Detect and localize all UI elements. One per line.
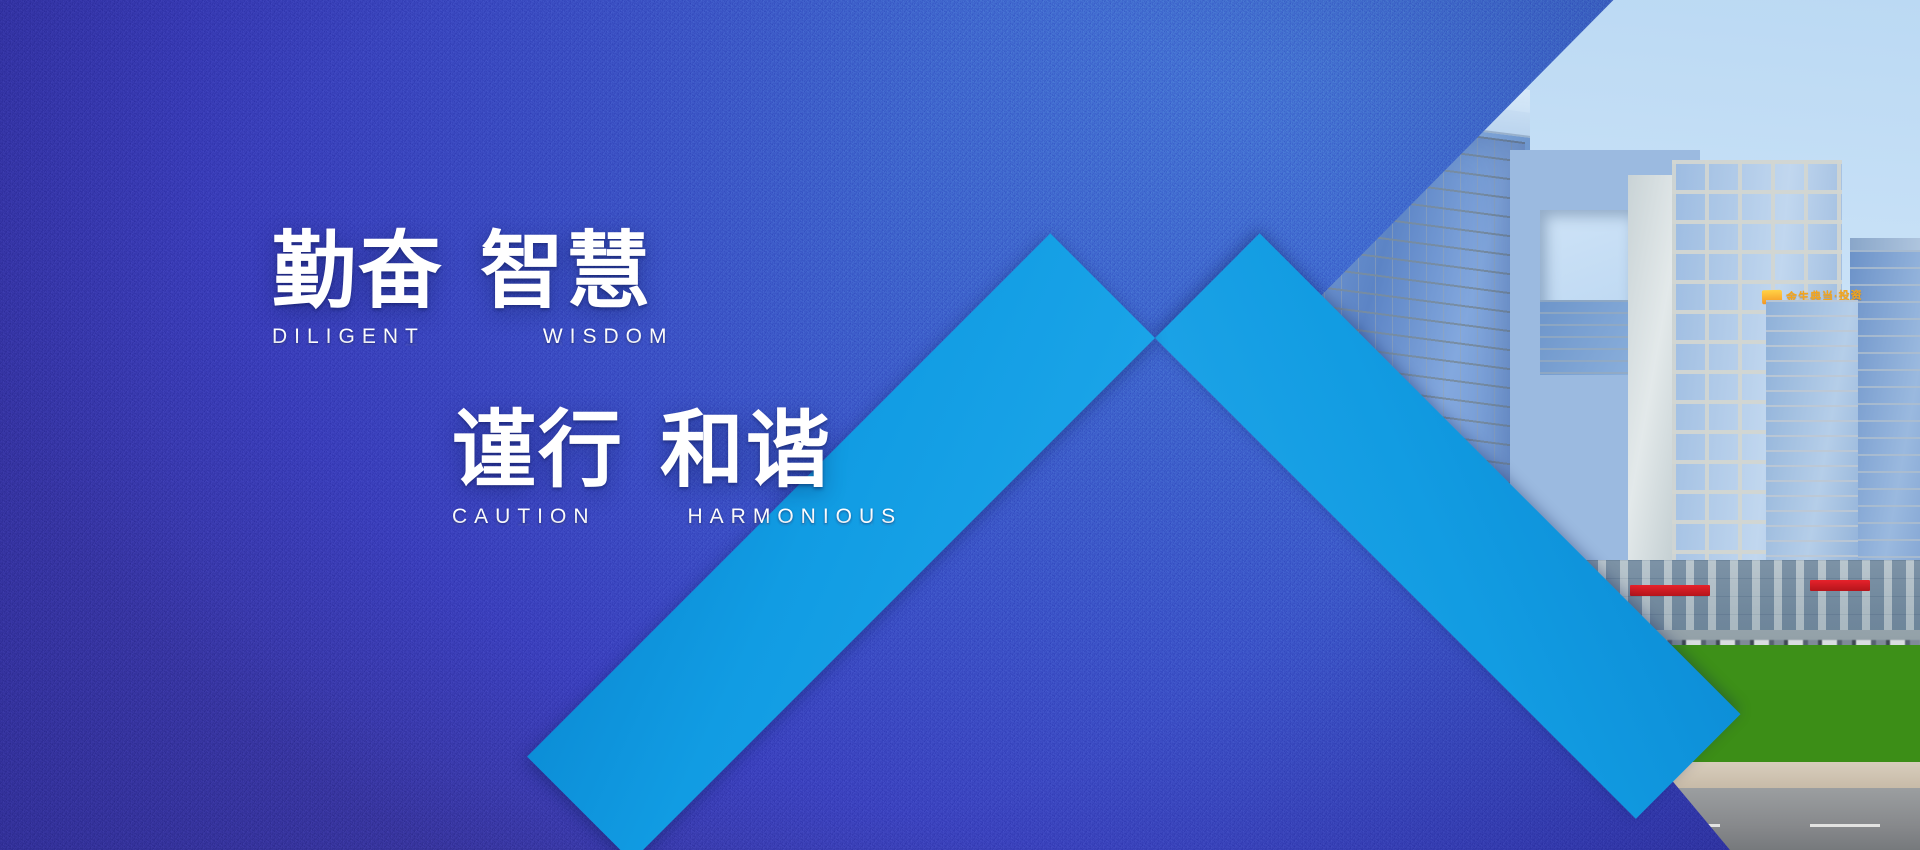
slogan-line-1: 勤奋 智慧 DILIGENT WISDOM DILIGENT WISDOM xyxy=(272,228,992,349)
slogan-cn-caution: 谨行 xyxy=(452,407,624,494)
slogan-spacer xyxy=(624,407,660,494)
slogan-en-harmonious: HARMONIOUS xyxy=(688,505,903,529)
slogan-spacer xyxy=(444,228,480,315)
slogan-block: 勤奋 智慧 DILIGENT WISDOM DILIGENT WISDOM 谨行… xyxy=(272,228,992,529)
slogan-cn-harmonious: 和谐 xyxy=(660,407,832,494)
slogan-cn-wisdom: 智慧 xyxy=(480,228,652,315)
slogan-line-1-chinese: 勤奋 智慧 xyxy=(272,228,992,315)
slogan-en-caution: CAUTION xyxy=(452,505,596,529)
road-marking xyxy=(1810,824,1880,827)
shop-sign xyxy=(1630,585,1710,596)
slogan-cn-diligent: 勤奋 xyxy=(272,228,444,315)
slogan-line-2-english: CAUTION HARMONIOUS CAUTION HARMONIOUS xyxy=(452,505,992,529)
shop-sign xyxy=(1810,580,1870,591)
slogan-line-2: 谨行 和谐 CAUTION HARMONIOUS CAUTION HARMONI… xyxy=(452,407,992,528)
slogan-line-1-english: DILIGENT WISDOM DILIGENT WISDOM xyxy=(272,325,992,349)
slogan-line-2-chinese: 谨行 和谐 xyxy=(452,407,992,494)
slogan-spacer xyxy=(596,505,688,529)
slogan-spacer xyxy=(425,325,543,349)
corporate-culture-banner: 江苏国泰 金生典当·投资 xyxy=(0,0,1920,850)
slogan-en-diligent: DILIGENT xyxy=(272,325,425,349)
tower-void-inner-facade xyxy=(1540,300,1628,375)
slogan-en-wisdom: WISDOM xyxy=(543,325,674,349)
